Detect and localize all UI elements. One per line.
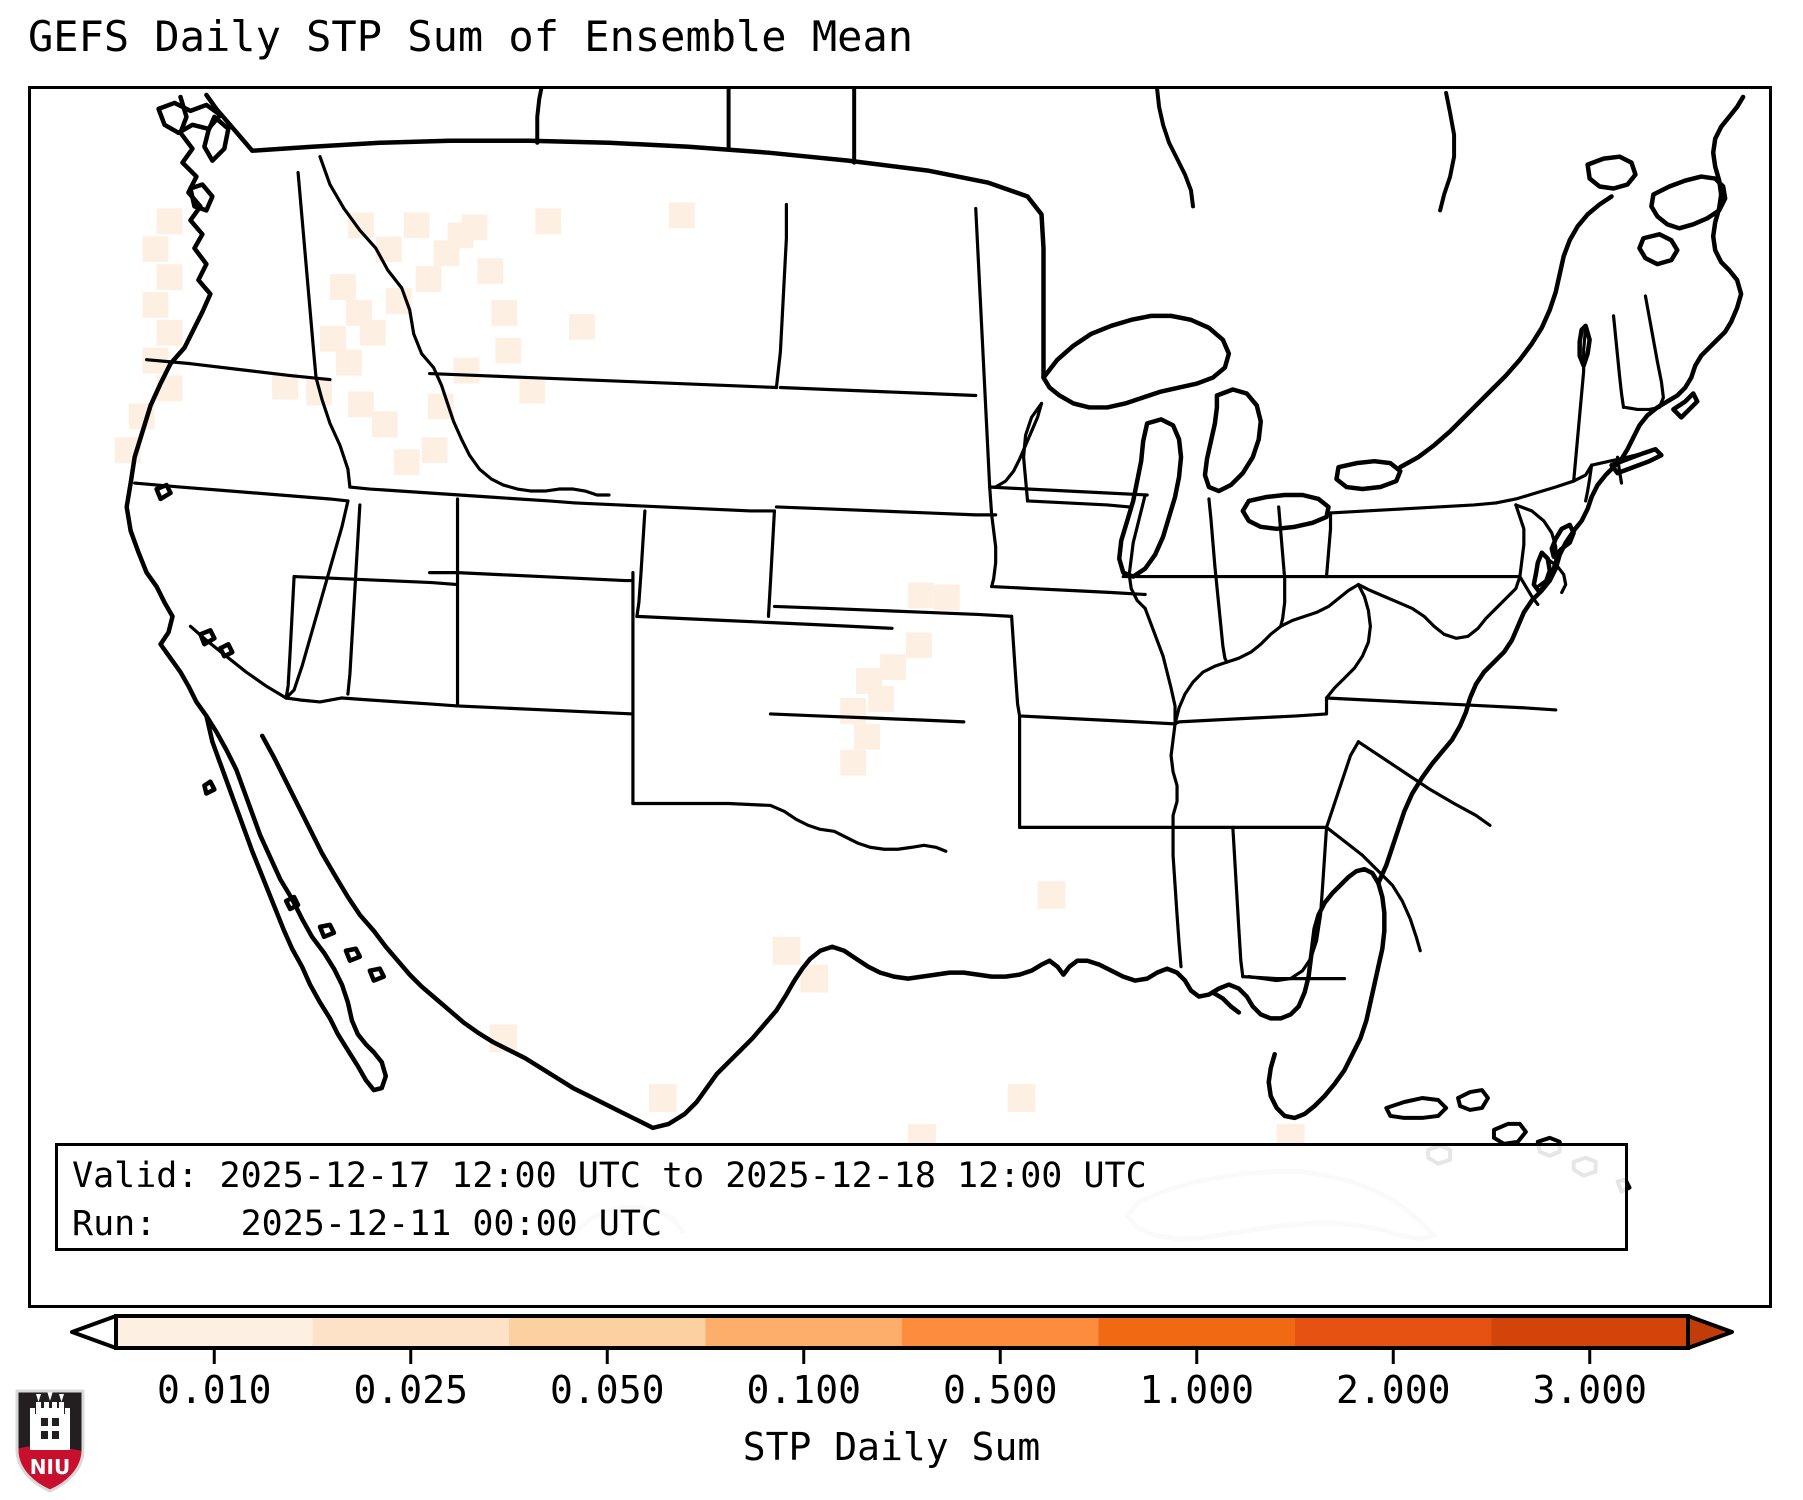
colorbar-segment	[706, 1316, 903, 1348]
niu-logo: NIU	[14, 1388, 86, 1494]
colorbar-tick-label: 0.010	[157, 1368, 271, 1412]
colorbar-segment	[1295, 1316, 1492, 1348]
colorbar-segment	[902, 1316, 1099, 1348]
colorbar-axis-label-text: STP Daily Sum	[743, 1424, 1040, 1470]
colorbar-ticks	[214, 1348, 1590, 1364]
colorbar-tick-label: 0.500	[943, 1368, 1057, 1412]
conus-map	[31, 89, 1769, 1305]
niu-shield-icon: NIU	[14, 1388, 86, 1494]
colorbar-axis-label: STP Daily Sum	[0, 1424, 1803, 1470]
colorbar-tick-label: 2.000	[1336, 1368, 1450, 1412]
colorbar-tick-label: 0.050	[550, 1368, 664, 1412]
colorbar-segment	[116, 1316, 313, 1348]
state-boundaries-layer	[135, 157, 1664, 981]
niu-wordmark: NIU	[30, 1455, 70, 1479]
colorbar-svg[interactable]	[0, 1312, 1803, 1372]
colorbar-tick-labels: 0.0100.0250.0500.1000.5001.0002.0003.000	[0, 1368, 1803, 1414]
annotation-run-line: Run: 2025-12-11 00:00 UTC	[72, 1200, 1611, 1248]
page-title: GEFS Daily STP Sum of Ensemble Mean	[28, 16, 913, 58]
colorbar-segment	[1492, 1316, 1689, 1348]
data-cells-layer	[115, 202, 1305, 1151]
colorbar-segment	[1099, 1316, 1296, 1348]
colorbar-tick-label: 0.100	[747, 1368, 861, 1412]
colorbar-tick-label: 1.000	[1140, 1368, 1254, 1412]
colorbar-segment	[509, 1316, 706, 1348]
colorbar-tick-label: 0.025	[354, 1368, 468, 1412]
annotation-valid-line: Valid: 2025-12-17 12:00 UTC to 2025-12-1…	[72, 1152, 1611, 1200]
colorbar-over-arrow	[1688, 1316, 1732, 1348]
map-frame: Valid: 2025-12-17 12:00 UTC to 2025-12-1…	[28, 86, 1772, 1308]
colorbar-segment	[313, 1316, 510, 1348]
colorbar[interactable]	[0, 1312, 1803, 1372]
annotation-box: Valid: 2025-12-17 12:00 UTC to 2025-12-1…	[55, 1143, 1628, 1251]
colorbar-tick-label: 3.000	[1533, 1368, 1647, 1412]
colorbar-under-arrow	[72, 1316, 116, 1348]
colorbar-segments	[116, 1316, 1689, 1348]
